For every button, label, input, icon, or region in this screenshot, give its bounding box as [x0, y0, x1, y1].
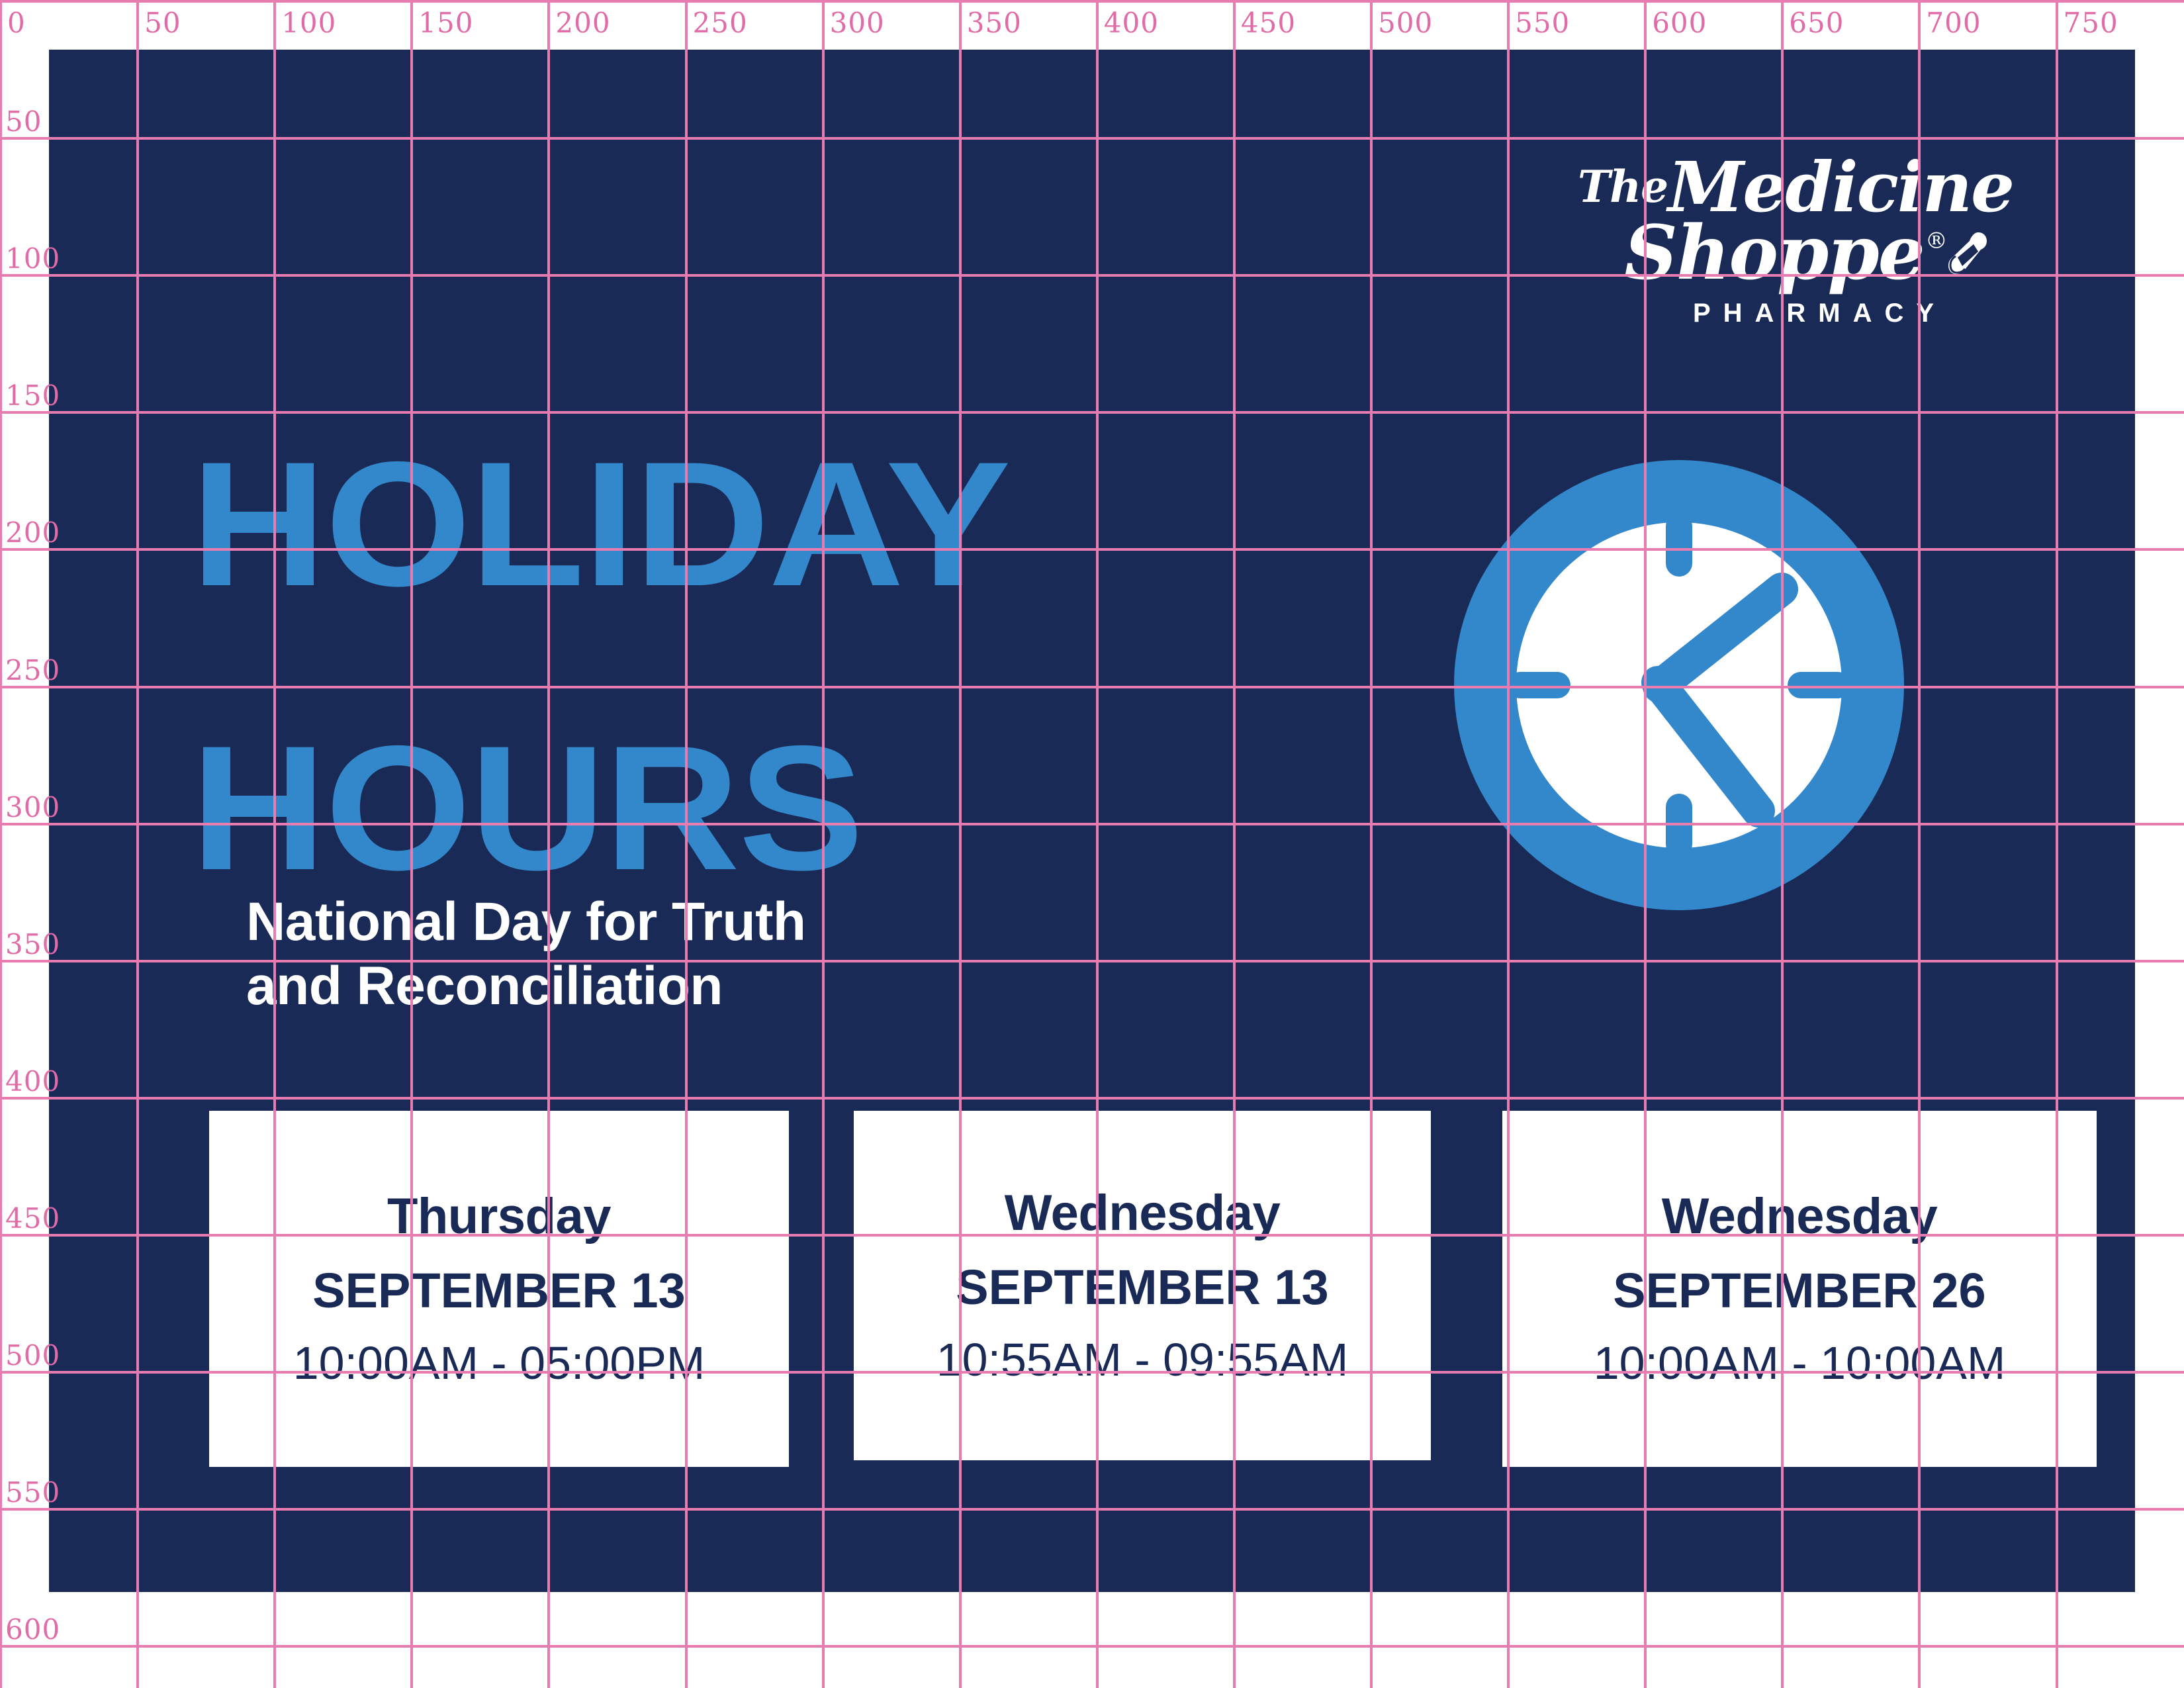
page-subtitle: National Day for Truth and Reconciliatio… [246, 890, 806, 1019]
grid-line-vertical [0, 0, 2, 1688]
card-date-label: SEPTEMBER 13 [956, 1262, 1328, 1313]
subtitle-line-1: National Day for Truth [246, 890, 806, 955]
grid-label-x: 150 [418, 9, 473, 37]
card-time-label: 10:55AM - 09:55AM [936, 1336, 1349, 1385]
grid-line-horizontal [0, 1645, 2184, 1648]
poster-canvas: TheMedicine Shoppe® PHARMACY HOLIDAY HOU… [0, 0, 2184, 1688]
card-day-label: Wednesday [1005, 1187, 1280, 1240]
grid-label-y: 600 [5, 1616, 60, 1644]
hours-card-list: Thursday SEPTEMBER 13 10:00AM - 05:00PM … [159, 1058, 2052, 1435]
hours-card[interactable]: Wednesday SEPTEMBER 13 10:55AM - 09:55AM [854, 1111, 1431, 1460]
clock-icon [1447, 453, 1911, 917]
registered-trademark-icon: ® [1925, 228, 1946, 254]
grid-label-y: 50 [5, 108, 42, 136]
grid-label-x: 550 [1515, 9, 1570, 37]
grid-label-x: 250 [693, 9, 748, 37]
grid-label-x: 400 [1104, 9, 1159, 37]
grid-label-x: 350 [967, 9, 1022, 37]
brand-logo: TheMedicine Shoppe® PHARMACY [1555, 156, 2012, 328]
grid-label-x: 0 [7, 9, 26, 37]
grid-line-horizontal [0, 0, 2184, 3]
logo-line-shoppe: Shoppe® [1555, 219, 2012, 289]
logo-shoppe-text: Shoppe [1624, 210, 1924, 297]
headline-line-2: HOURS [191, 737, 1009, 878]
grid-label-x: 300 [830, 9, 885, 37]
subtitle-line-2: and Reconciliation [246, 955, 806, 1019]
logo-pharmacy-text: PHARMACY [1555, 299, 2012, 328]
card-day-label: Wednesday [1662, 1190, 1937, 1243]
mortar-pestle-icon [1948, 230, 1989, 289]
logo-the-text: The [1578, 161, 1668, 212]
card-date-label: SEPTEMBER 26 [1613, 1265, 1985, 1317]
headline-line-1: HOLIDAY [191, 453, 1009, 594]
grid-label-x: 650 [1789, 9, 1844, 37]
hours-card[interactable]: Wednesday SEPTEMBER 26 10:00AM - 10:00AM [1502, 1111, 2097, 1467]
card-day-label: Thursday [387, 1190, 611, 1243]
grid-label-x: 450 [1241, 9, 1296, 37]
grid-label-x: 100 [281, 9, 336, 37]
grid-label-x: 500 [1378, 9, 1433, 37]
poster-artboard: TheMedicine Shoppe® PHARMACY HOLIDAY HOU… [49, 50, 2135, 1592]
grid-label-x: 700 [1926, 9, 1981, 37]
card-time-label: 10:00AM - 10:00AM [1594, 1339, 2006, 1388]
grid-label-x: 50 [144, 9, 181, 37]
hours-card[interactable]: Thursday SEPTEMBER 13 10:00AM - 05:00PM [209, 1111, 789, 1467]
grid-label-x: 750 [2064, 9, 2118, 37]
grid-label-x: 600 [1652, 9, 1707, 37]
grid-label-x: 200 [555, 9, 610, 37]
card-date-label: SEPTEMBER 13 [312, 1265, 685, 1317]
card-time-label: 10:00AM - 05:00PM [293, 1339, 705, 1388]
